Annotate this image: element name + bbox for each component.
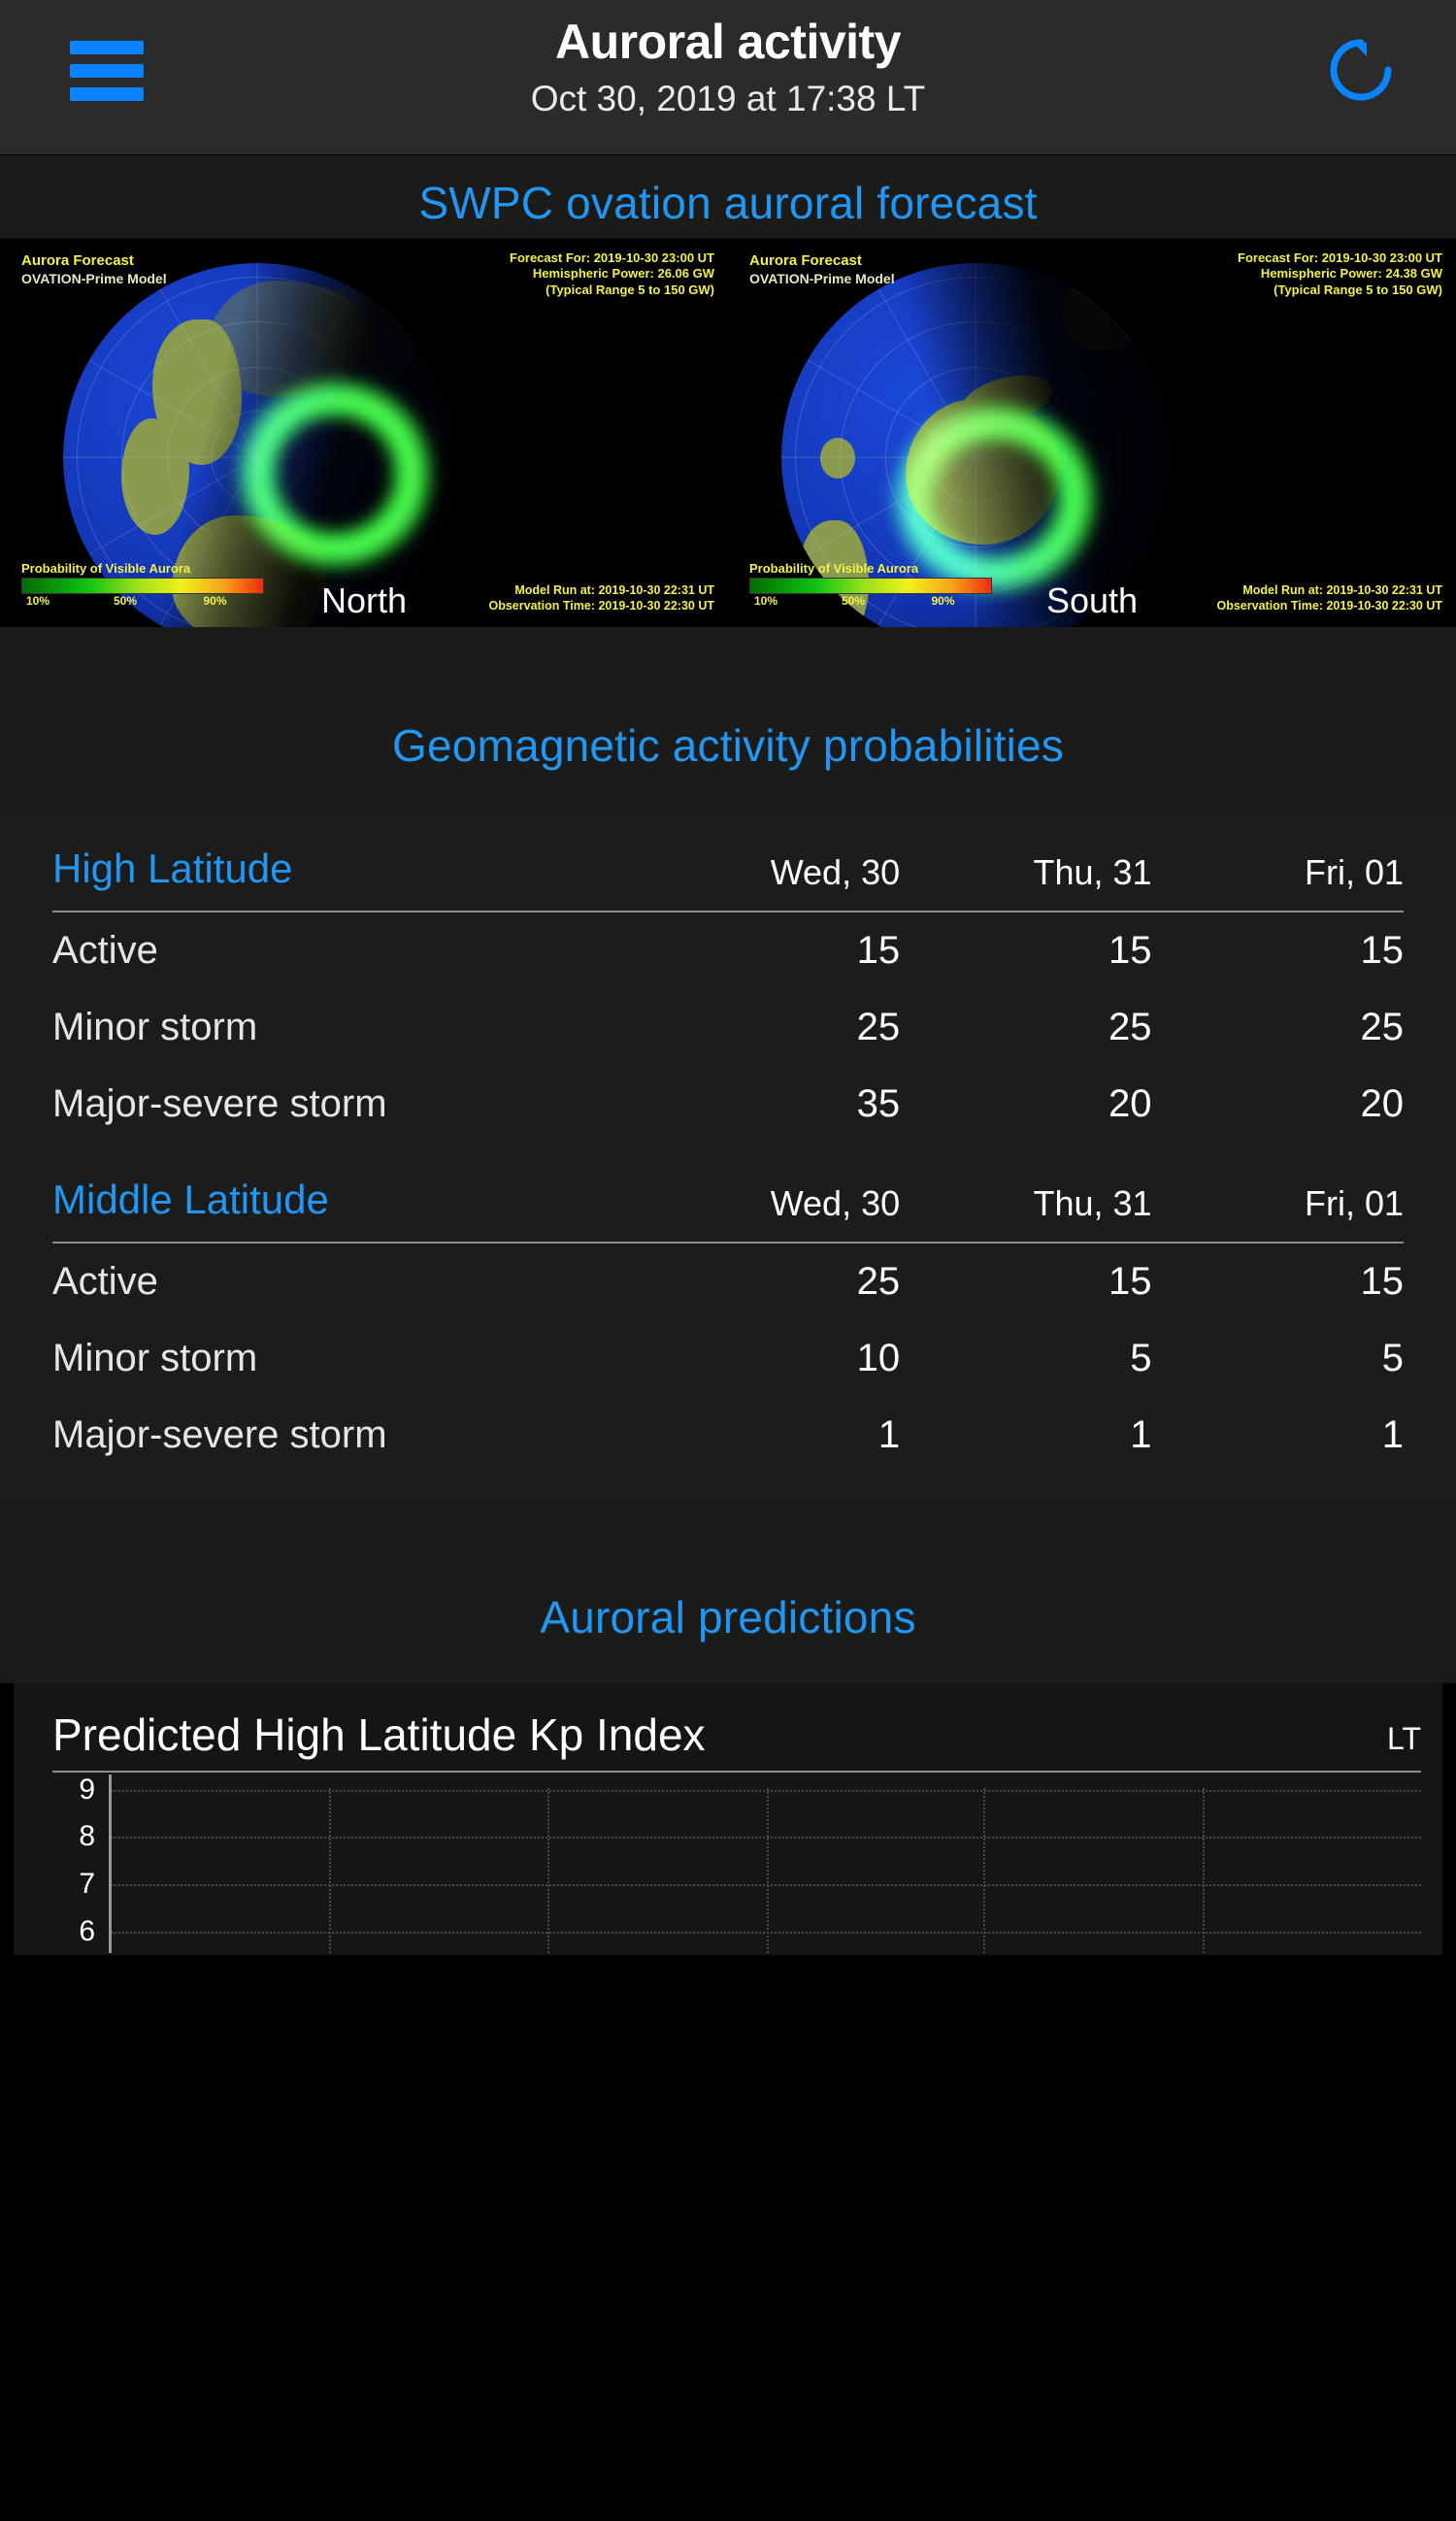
kp-index-chart[interactable]: Predicted High Latitude Kp Index LT 9 8 … [14,1683,1442,1955]
table-row: Active 25 15 15 [52,1244,1404,1320]
geomagnetic-header-label: Geomagnetic activity probabilities [0,719,1456,772]
column-header-1: Thu, 31 [900,1143,1151,1242]
north-typical-range: (Typical Range 5 to 150 GW) [510,282,714,298]
chart-title: Predicted High Latitude Kp Index [52,1708,706,1761]
column-header-1: Thu, 31 [900,812,1151,911]
nav-title-group: Auroral activity Oct 30, 2019 at 17:38 L… [0,14,1456,121]
chart-y-axis: 9 8 7 6 [52,1788,109,1953]
south-forecast-info: Forecast For: 2019-10-30 23:00 UT Hemisp… [1238,250,1442,298]
cell-minor-wed: 10 [648,1320,900,1397]
south-forecast-for: Forecast For: 2019-10-30 23:00 UT [1238,250,1442,266]
navigation-bar: Auroral activity Oct 30, 2019 at 17:38 L… [0,0,1456,155]
cell-major-fri: 20 [1152,1066,1404,1143]
chart-plot-area: 9 8 7 6 [52,1788,1421,1953]
table-header-row: High Latitude Wed, 30 Thu, 31 Fri, 01 [52,812,1404,911]
chart-divider [52,1771,1421,1773]
table-row: Major-severe storm 35 20 20 [52,1066,1404,1143]
chart-time-unit: LT [1387,1721,1421,1761]
south-map-subtitle: OVATION-Prime Model [749,271,895,286]
row-label-minor-storm: Minor storm [52,989,648,1066]
table-row: Minor storm 10 5 5 [52,1320,1404,1397]
table-row: Active 15 15 15 [52,912,1404,989]
page-timestamp: Oct 30, 2019 at 17:38 LT [0,77,1456,121]
cell-minor-wed: 25 [648,989,900,1066]
north-forecast-info: Forecast For: 2019-10-30 23:00 UT Hemisp… [510,250,714,298]
cell-major-thu: 1 [900,1397,1151,1474]
cell-active-fri: 15 [1152,1244,1404,1320]
cell-minor-thu: 25 [900,989,1151,1066]
south-caption: South [728,580,1456,621]
north-map-title: Aurora Forecast [21,252,134,269]
row-label-minor-storm: Minor storm [52,1320,648,1397]
north-forecast-for: Forecast For: 2019-10-30 23:00 UT [510,250,714,266]
y-tick-9: 9 [79,1774,95,1807]
cell-major-thu: 20 [900,1066,1151,1143]
page-title: Auroral activity [0,14,1456,71]
predictions-header-label: Auroral predictions [0,1591,1456,1643]
column-header-0: Wed, 30 [648,812,900,911]
y-tick-7: 7 [79,1868,95,1901]
aurora-oval-north [228,370,442,579]
group-title-middle-latitude: Middle Latitude [52,1143,648,1242]
row-label-active: Active [52,1244,648,1320]
cell-active-wed: 15 [648,912,900,989]
cell-minor-fri: 5 [1152,1320,1404,1397]
row-label-major-severe-storm: Major-severe storm [52,1066,648,1143]
north-colorbar-label: Probability of Visible Aurora [21,561,264,576]
group-title-high-latitude: High Latitude [52,812,648,911]
swpc-section-header: SWPC ovation auroral forecast [0,155,1456,239]
north-caption: North [0,580,728,621]
y-tick-6: 6 [79,1915,95,1948]
table-row: Minor storm 25 25 25 [52,989,1404,1066]
north-map-subtitle: OVATION-Prime Model [21,271,167,286]
cell-active-thu: 15 [900,912,1151,989]
swpc-header-label: SWPC ovation auroral forecast [0,177,1456,229]
cell-active-fri: 15 [1152,912,1404,989]
predictions-section-header: Auroral predictions [0,1499,1456,1683]
cell-major-wed: 35 [648,1066,900,1143]
north-hemisphere-map[interactable]: Aurora Forecast OVATION-Prime Model Fore… [0,239,728,627]
cell-minor-thu: 5 [900,1320,1151,1397]
cell-minor-fri: 25 [1152,989,1404,1066]
chart-gridlines [112,1788,1421,1953]
table-row: Major-severe storm 1 1 1 [52,1397,1404,1474]
refresh-icon[interactable] [1324,33,1398,107]
geomagnetic-tables: High Latitude Wed, 30 Thu, 31 Fri, 01 Ac… [0,812,1456,1499]
south-hemisphere-map[interactable]: Aurora Forecast OVATION-Prime Model Fore… [728,239,1456,627]
cell-major-fri: 1 [1152,1397,1404,1474]
middle-latitude-table: Middle Latitude Wed, 30 Thu, 31 Fri, 01 … [52,1143,1404,1474]
south-typical-range: (Typical Range 5 to 150 GW) [1238,282,1442,298]
column-header-2: Fri, 01 [1152,812,1404,911]
high-latitude-table: High Latitude Wed, 30 Thu, 31 Fri, 01 Ac… [52,812,1404,1143]
row-label-major-severe-storm: Major-severe storm [52,1397,648,1474]
y-tick-8: 8 [79,1820,95,1853]
cell-active-wed: 25 [648,1244,900,1320]
cell-active-thu: 15 [900,1244,1151,1320]
table-header-row: Middle Latitude Wed, 30 Thu, 31 Fri, 01 [52,1143,1404,1242]
geomagnetic-section-header: Geomagnetic activity probabilities [0,627,1456,812]
south-hemispheric-power: Hemispheric Power: 24.38 GW [1238,266,1442,282]
aurora-forecast-maps: Aurora Forecast OVATION-Prime Model Fore… [0,239,1456,627]
chart-header: Predicted High Latitude Kp Index LT [14,1683,1442,1771]
row-label-active: Active [52,912,648,989]
column-header-2: Fri, 01 [1152,1143,1404,1242]
column-header-0: Wed, 30 [648,1143,900,1242]
cell-major-wed: 1 [648,1397,900,1474]
south-colorbar-label: Probability of Visible Aurora [749,561,992,576]
north-hemispheric-power: Hemispheric Power: 26.06 GW [510,266,714,282]
south-map-title: Aurora Forecast [749,252,862,269]
